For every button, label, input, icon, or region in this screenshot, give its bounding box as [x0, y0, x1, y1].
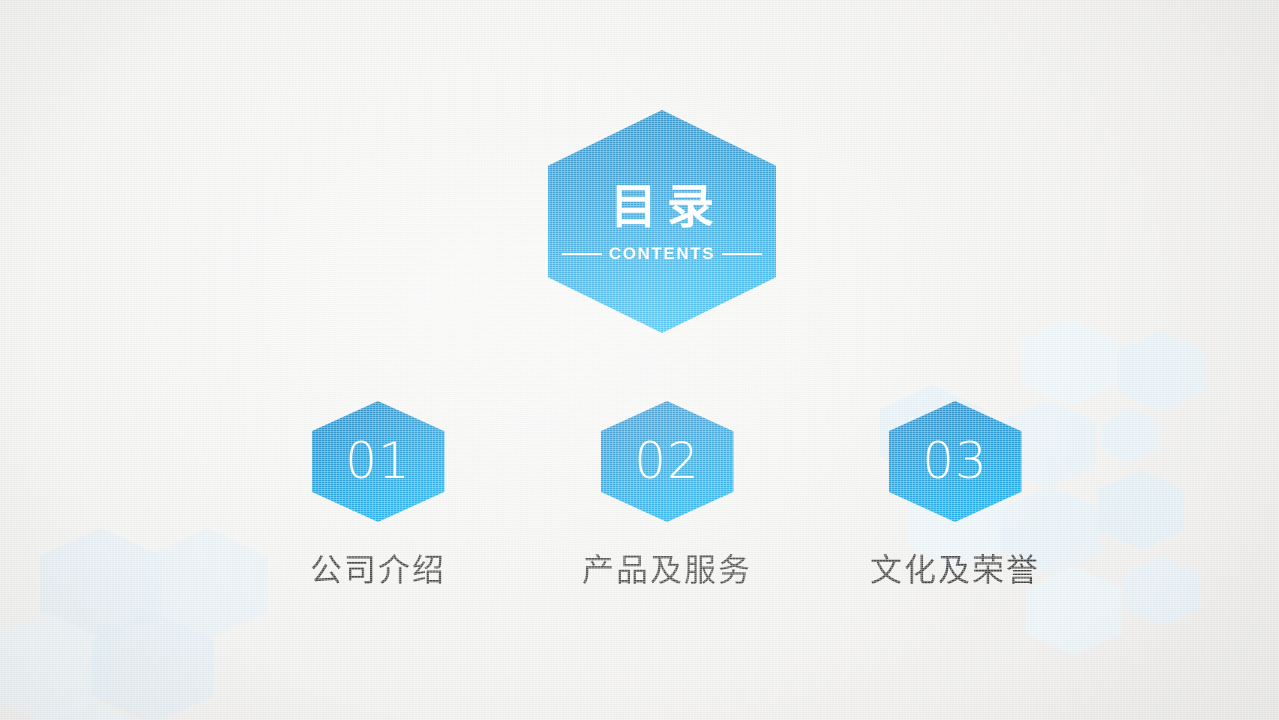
slide-canvas: 目录 CONTENTS 01 公司介绍 02 产品及服务 03 文化及荣誉: [0, 0, 1279, 720]
contents-title: 目录: [600, 183, 724, 232]
decorative-hexagon: [1022, 318, 1118, 406]
contents-badge: 目录 CONTENTS: [548, 110, 776, 333]
agenda-item-01[interactable]: 01 公司介绍: [258, 401, 498, 591]
agenda-item-03[interactable]: 03 文化及荣誉: [835, 401, 1075, 591]
rule-left-icon: [562, 253, 602, 255]
decorative-hexagon: [1124, 556, 1200, 626]
rule-right-icon: [722, 253, 762, 255]
agenda-item-03-hexagon[interactable]: 03: [889, 401, 1022, 522]
agenda-item-01-number: 01: [345, 436, 411, 486]
decorative-hexagon: [1117, 330, 1205, 412]
agenda-item-02-label: 产品及服务: [547, 545, 787, 591]
agenda-item-03-label: 文化及荣誉: [835, 545, 1075, 591]
contents-badge-inner: 目录 CONTENTS: [548, 110, 776, 333]
decorative-hexagon: [1102, 408, 1160, 462]
agenda-item-02[interactable]: 02 产品及服务: [547, 401, 787, 591]
agenda-item-01-hexagon[interactable]: 01: [312, 401, 445, 522]
agenda-item-02-number: 02: [634, 436, 700, 486]
decorative-hexagon: [1098, 470, 1184, 550]
contents-subtitle: CONTENTS: [609, 244, 715, 264]
agenda-item-01-label: 公司介绍: [258, 545, 498, 591]
contents-subtitle-row: CONTENTS: [548, 244, 776, 264]
agenda-item-03-number: 03: [922, 436, 988, 486]
agenda-item-02-hexagon[interactable]: 02: [601, 401, 734, 522]
